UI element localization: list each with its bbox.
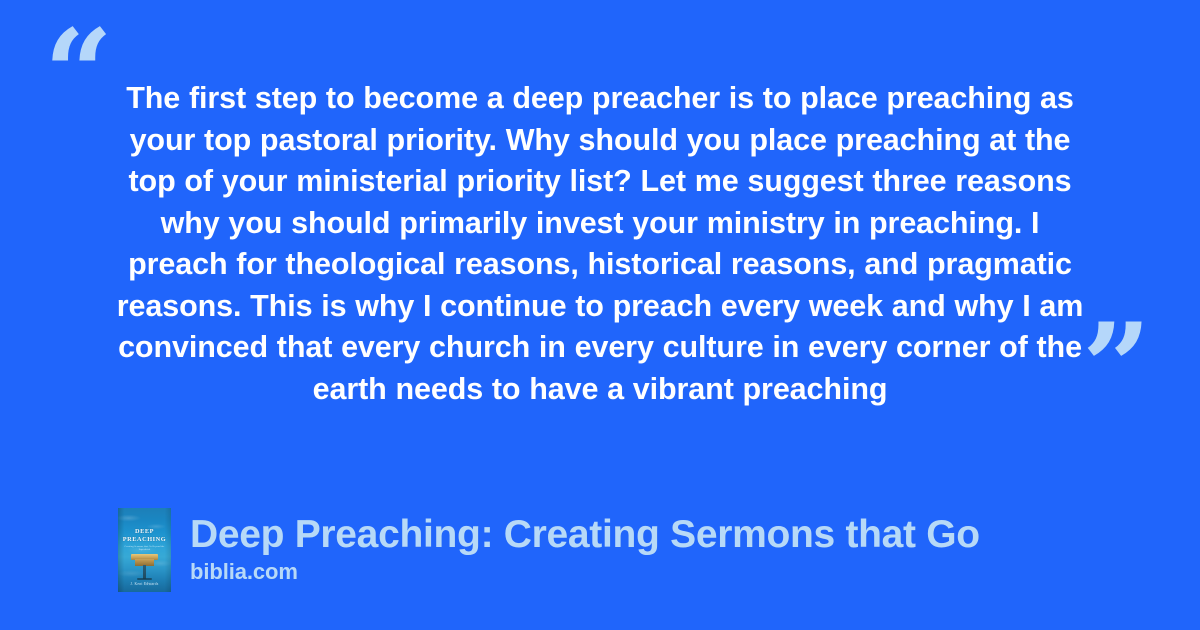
opening-quote-icon: “ xyxy=(44,14,113,134)
book-cover-author: J. Kent Edwards xyxy=(118,582,171,586)
pulpit-stem-icon xyxy=(143,565,146,579)
quote-block: “ The first step to become a deep preach… xyxy=(0,0,1200,440)
book-cover-subtitle: Creating Sermons that Go Beyond the Supe… xyxy=(121,545,168,551)
closing-quote-icon: ” xyxy=(1082,308,1151,428)
footer: DEEP PREACHING Creating Sermons that Go … xyxy=(118,508,1128,596)
book-cover-thumbnail: DEEP PREACHING Creating Sermons that Go … xyxy=(118,508,171,592)
book-title: Deep Preaching: Creating Sermons that Go xyxy=(190,512,980,557)
quote-text: The first step to become a deep preacher… xyxy=(110,78,1090,410)
source-site[interactable]: biblia.com xyxy=(190,558,980,586)
book-cover-title: DEEP PREACHING xyxy=(118,528,171,543)
quote-card: “ The first step to become a deep preach… xyxy=(0,0,1200,630)
footer-text-group: Deep Preaching: Creating Sermons that Go… xyxy=(190,508,980,586)
pulpit-base-icon xyxy=(137,578,152,580)
